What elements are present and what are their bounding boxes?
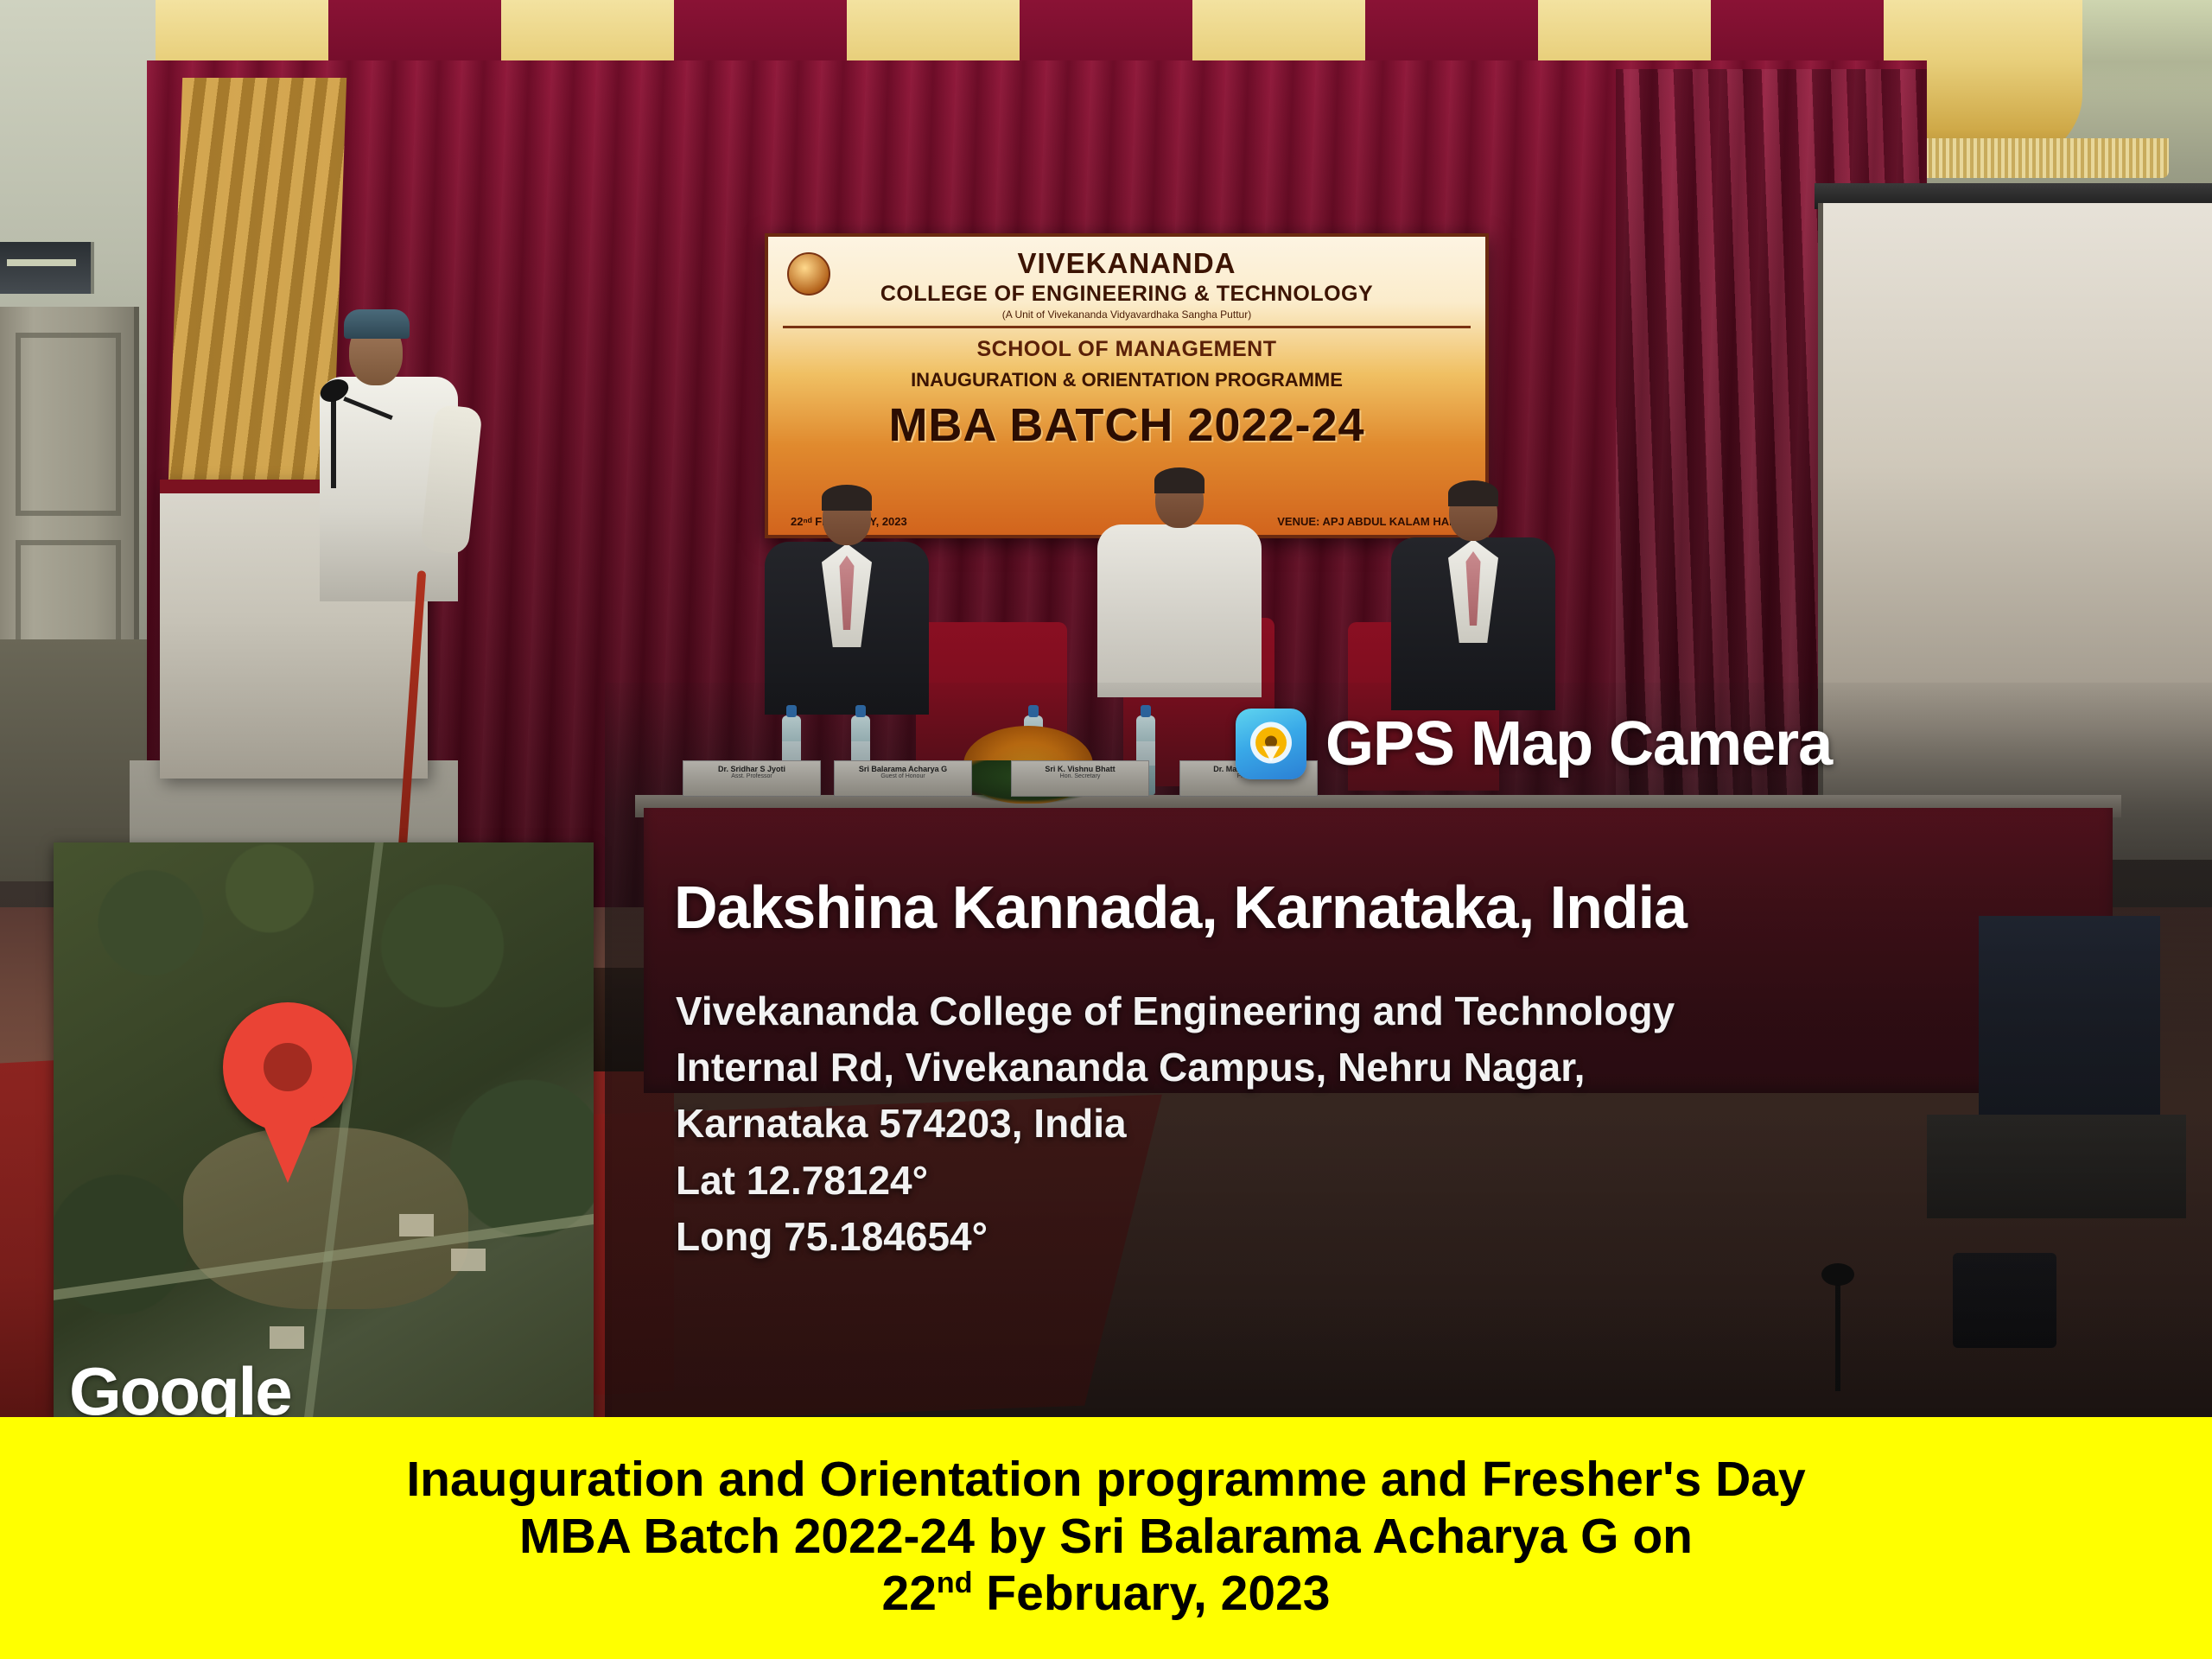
speaker-cap — [344, 309, 410, 339]
event-photograph: VIVEKANANDA COLLEGE OF ENGINEERING & TEC… — [0, 0, 2212, 1417]
banner-programme: INAUGURATION & ORIENTATION PROGRAMME — [768, 369, 1485, 391]
wall-window — [0, 242, 94, 294]
gps-address-block: Vivekananda College of Engineering and T… — [676, 985, 1675, 1267]
map-thumbnail: Google — [54, 842, 594, 1417]
college-logo-icon — [787, 252, 830, 296]
caption-line-3: 22nd February, 2023 — [882, 1565, 1331, 1622]
gps-longitude: Long 75.184654° — [676, 1211, 1675, 1263]
caption-bar: Inauguration and Orientation programme a… — [0, 1417, 2212, 1659]
map-marker-icon — [223, 1002, 353, 1132]
caption-ordinal-suffix: nd — [937, 1567, 973, 1599]
banner-batch: MBA BATCH 2022-24 — [768, 398, 1485, 452]
gps-app-name: GPS Map Camera — [1325, 709, 1832, 779]
gps-latitude: Lat 12.78124° — [676, 1154, 1675, 1207]
banner-college-name: VIVEKANANDA — [768, 247, 1485, 280]
banner-divider — [783, 326, 1471, 328]
banner-college-line3: (A Unit of Vivekananda Vidyavardhaka San… — [768, 308, 1485, 321]
caption-line-2: MBA Batch 2022-24 by Sri Balarama Achary… — [519, 1508, 1693, 1565]
photo-with-caption-page: VIVEKANANDA COLLEGE OF ENGINEERING & TEC… — [0, 0, 2212, 1659]
gps-address-line-3: Karnataka 574203, India — [676, 1097, 1675, 1150]
banner-college-line2: COLLEGE OF ENGINEERING & TECHNOLOGY — [768, 282, 1485, 307]
caption-day-number: 22 — [882, 1566, 937, 1621]
location-pin-icon — [1236, 709, 1306, 779]
microphone-stand — [331, 393, 336, 488]
gps-address-line-1: Vivekananda College of Engineering and T… — [676, 985, 1675, 1038]
map-building — [451, 1249, 486, 1271]
gps-place-name: Dakshina Kannada, Karnataka, India — [674, 873, 1687, 942]
map-building — [270, 1326, 304, 1349]
gps-app-header: GPS Map Camera — [1236, 709, 1832, 779]
banner-school: SCHOOL OF MANAGEMENT — [768, 337, 1485, 362]
gps-address-line-2: Internal Rd, Vivekananda Campus, Nehru N… — [676, 1041, 1675, 1094]
map-building — [399, 1214, 434, 1236]
caption-line-1: Inauguration and Orientation programme a… — [406, 1451, 1805, 1508]
google-logo: Google — [69, 1352, 291, 1417]
caption-month-year: February, 2023 — [972, 1566, 1330, 1621]
